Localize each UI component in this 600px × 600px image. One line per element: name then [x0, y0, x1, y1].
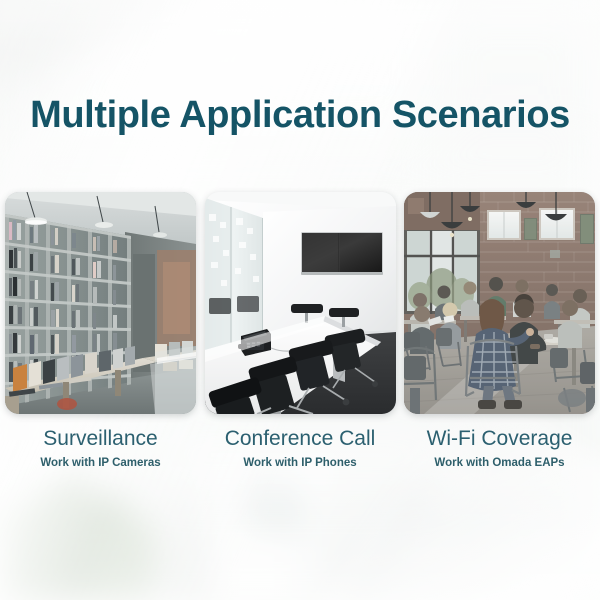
- scenario-subtitle-conference-call: Work with IP Phones: [205, 456, 396, 471]
- scenario-subtitle-surveillance: Work with IP Cameras: [5, 456, 196, 471]
- page-title: Multiple Application Scenarios: [0, 92, 600, 138]
- banner-root: Multiple Application Scenarios: [0, 0, 600, 600]
- scenario-image-conference-call: [205, 192, 396, 414]
- scenario-card-list: [5, 192, 595, 414]
- scenario-title-surveillance: Surveillance: [5, 426, 196, 452]
- scenario-title-wifi-coverage: Wi-Fi Coverage: [404, 426, 595, 452]
- scenario-caption-list: Surveillance Work with IP Cameras Confer…: [5, 426, 595, 486]
- scenario-caption-conference-call: Conference Call Work with IP Phones: [205, 426, 396, 471]
- scenario-caption-wifi-coverage: Wi-Fi Coverage Work with Omada EAPs: [404, 426, 595, 471]
- scenario-title-conference-call: Conference Call: [205, 426, 396, 452]
- scenario-image-surveillance: [5, 192, 196, 414]
- scenario-image-wifi-coverage: [404, 192, 595, 414]
- scenario-caption-surveillance: Surveillance Work with IP Cameras: [5, 426, 196, 471]
- scenario-subtitle-wifi-coverage: Work with Omada EAPs: [404, 456, 595, 471]
